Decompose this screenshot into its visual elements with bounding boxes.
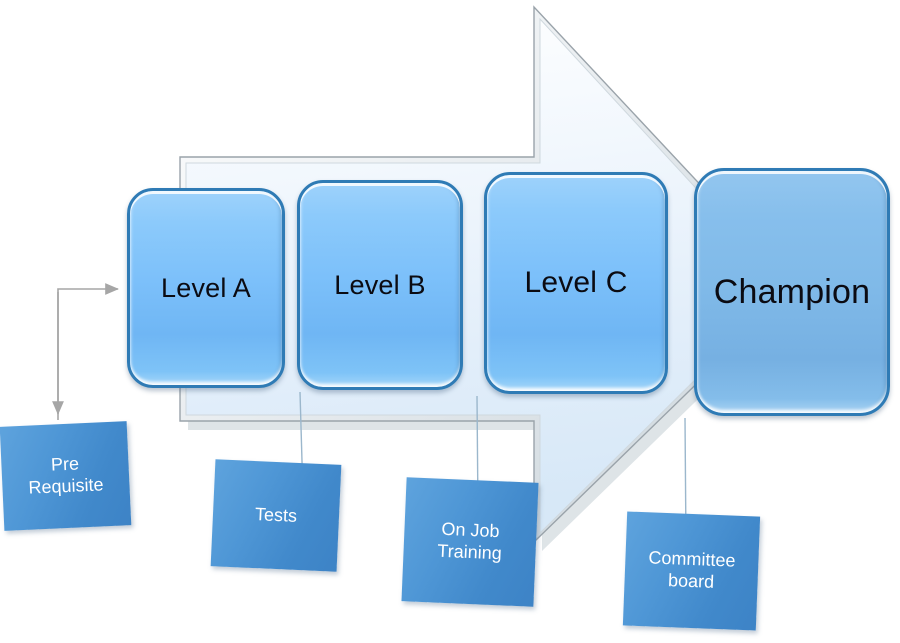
tag-line-1: Committee xyxy=(648,547,736,570)
tag-line-1: On Job xyxy=(441,519,500,541)
level-box-c[interactable]: Level C xyxy=(484,172,668,394)
tag-tests[interactable]: Tests xyxy=(211,459,342,572)
level-box-b[interactable]: Level B xyxy=(297,180,463,390)
tag-on-job-training[interactable]: On Job Training xyxy=(401,477,538,606)
level-box-a-label: Level A xyxy=(161,273,251,304)
tag-pre-requisite-label: Pre Requisite xyxy=(27,452,104,499)
tag-pre-requisite[interactable]: Pre Requisite xyxy=(0,421,131,531)
tag-committee-board[interactable]: Committee board xyxy=(623,511,760,630)
diagram-canvas: Level A Level B Level C Champion xyxy=(0,0,900,643)
tag-on-job-training-label: On Job Training xyxy=(437,519,503,566)
level-box-a[interactable]: Level A xyxy=(127,188,285,388)
level-box-champion[interactable]: Champion xyxy=(694,168,890,416)
level-box-b-label: Level B xyxy=(334,270,425,301)
tag-committee-board-label: Committee board xyxy=(647,547,736,594)
connector-prereq-to-level-a xyxy=(58,289,118,420)
level-box-champion-label: Champion xyxy=(714,273,871,312)
tag-line-2: Training xyxy=(437,541,502,564)
tag-line-2: board xyxy=(668,570,715,592)
tag-line-1: Pre xyxy=(51,453,80,474)
tag-tests-label: Tests xyxy=(255,504,298,528)
tag-line-2: Requisite xyxy=(28,474,104,497)
level-box-c-label: Level C xyxy=(524,266,627,300)
